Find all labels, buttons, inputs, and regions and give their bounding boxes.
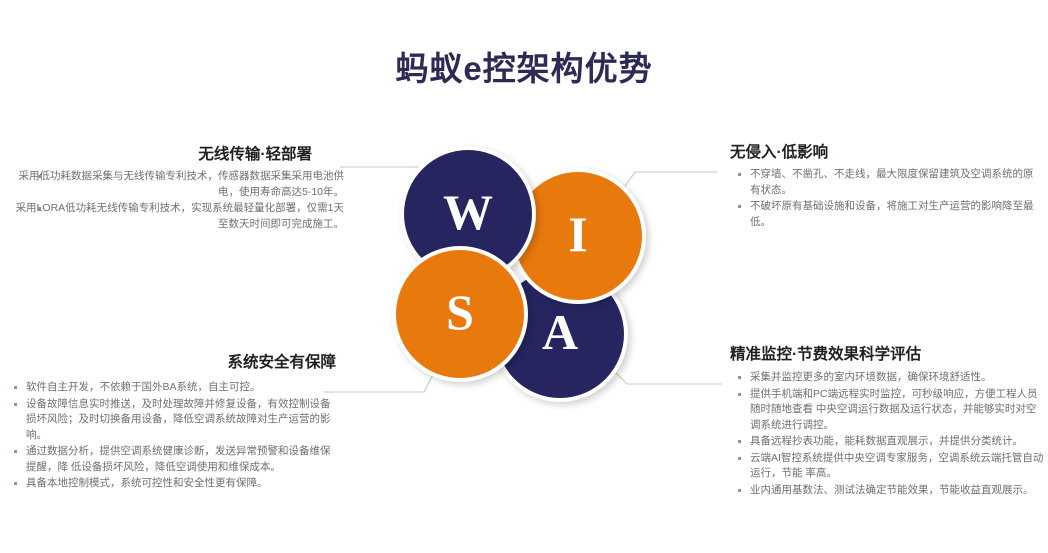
feature-block-bottom-right: 精准监控·节费效果科学评估 采集并监控更多的室内环境数据，确保环境舒适性。 提供… [730, 342, 1044, 499]
venn-letter-a: A [542, 307, 578, 357]
feature-block-top-right: 无侵入·低影响 不穿墙、不凿孔、不走线，最大限度保留建筑及空调系统的原有状态。 … [730, 140, 1042, 231]
venn-letter-i: I [568, 209, 587, 259]
feature-heading-wireless: 无线传输·轻部署 [14, 142, 344, 164]
list-item: 具备远程抄表功能，能耗数据直观展示，并提供分类统计。 [730, 434, 1044, 450]
list-item: 采用LORA低功耗无线传输专利技术，实现系统最轻量化部署，仅需1天至数天时间即可… [14, 201, 344, 232]
feature-bullet-list-top-left: 采用低功耗数据采集与无线传输专利技术，传感器数据采集采用电池供电，使用寿命高达5… [14, 169, 344, 232]
feature-bullet-list-top-right: 不穿墙、不凿孔、不走线，最大限度保留建筑及空调系统的原有状态。 不破坏原有基础设… [730, 167, 1042, 230]
list-item: 通过数据分析，提供空调系统健康诊断，发送异常预警和设备维保提醒，降 低设备损坏风… [10, 444, 340, 475]
venn-letter-s: S [446, 287, 474, 337]
feature-bullet-list-bottom-right: 采集并监控更多的室内环境数据，确保环境舒适性。 提供手机端和PC端远程实时监控，… [730, 370, 1044, 498]
feature-heading-monitoring: 精准监控·节费效果科学评估 [730, 342, 1044, 364]
feature-bullet-list-bottom-left: 软件自主开发，不依赖于国外BA系统，自主可控。 设备故障信息实时推送，及时处理故… [10, 380, 340, 492]
wisa-venn-diagram: W I A S [392, 146, 656, 406]
feature-heading-noninvasive: 无侵入·低影响 [730, 140, 1042, 162]
slide-canvas: 蚂蚁e控架构优势 W I A S 无线传输·轻部署 采用低功耗数据采集与无线传输… [0, 0, 1048, 553]
feature-block-top-left: 无线传输·轻部署 采用低功耗数据采集与无线传输专利技术，传感器数据采集采用电池供… [14, 142, 344, 233]
list-item: 软件自主开发，不依赖于国外BA系统，自主可控。 [10, 380, 340, 396]
venn-letter-w: W [443, 187, 493, 237]
list-item: 业内通用基数法、测试法确定节能效果，节能收益直观展示。 [730, 483, 1044, 499]
list-item: 采用低功耗数据采集与无线传输专利技术，传感器数据采集采用电池供电，使用寿命高达5… [14, 169, 344, 200]
feature-block-bottom-left: 系统安全有保障 软件自主开发，不依赖于国外BA系统，自主可控。 设备故障信息实时… [10, 350, 340, 493]
list-item: 设备故障信息实时推送，及时处理故障并修复设备，有效控制设备损坏风险；及时切换备用… [10, 397, 340, 444]
list-item: 不穿墙、不凿孔、不走线，最大限度保留建筑及空调系统的原有状态。 [730, 167, 1042, 198]
venn-circle-s[interactable]: S [392, 246, 528, 382]
feature-heading-security: 系统安全有保障 [10, 350, 340, 372]
list-item: 具备本地控制模式，系统可控性和安全性更有保障。 [10, 476, 340, 492]
list-item: 采集并监控更多的室内环境数据，确保环境舒适性。 [730, 370, 1044, 386]
list-item: 云端AI智控系统提供中央空调专家服务，空调系统云端托管自动运行，节能 率高。 [730, 451, 1044, 482]
list-item: 提供手机端和PC端远程实时监控，可秒级响应，方便工程人员随时随地查看 中央空调运… [730, 387, 1044, 434]
list-item: 不破坏原有基础设施和设备，将施工对生产运营的影响降至最低。 [730, 199, 1042, 230]
